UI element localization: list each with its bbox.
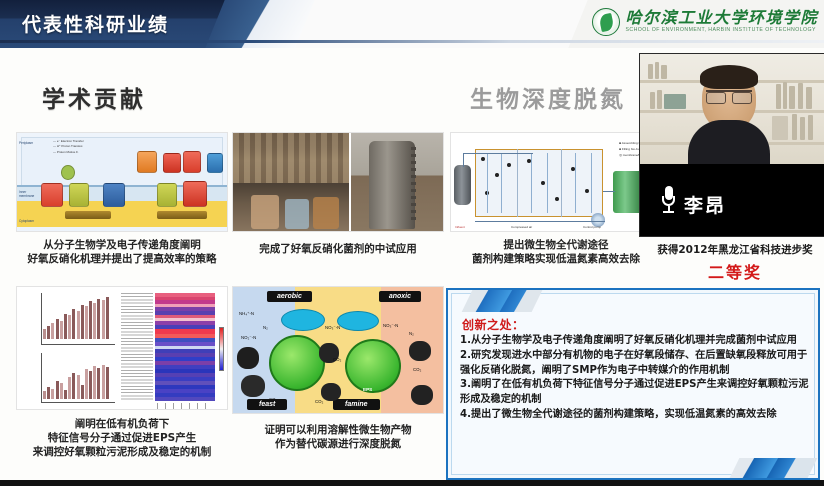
person-hair — [700, 65, 758, 89]
section-title-academic: 学术贡献 — [42, 80, 146, 114]
caption-line-3: 来调控好氧颗粒污泥形成及稳定的机制 — [10, 446, 234, 460]
caption-line-1: 从分子生物学及电子传递角度阐明 — [10, 239, 234, 253]
award-block: 获得2012年黑龙江省科技进步奖 二等奖 — [648, 242, 822, 283]
innovation-decor-top-left — [462, 288, 545, 312]
figure-caption-heatmap: 阐明在低有机负荷下 特征信号分子通过促进EPS产生 来调控好氧颗粒污泥形成及稳定… — [10, 418, 234, 460]
logo-chinese-name: 哈尔滨工业大学环境学院 — [625, 10, 818, 26]
video-person — [692, 68, 766, 164]
video-participant-tile[interactable]: 李昂 — [640, 54, 824, 236]
figure-bar-charts-heatmap — [16, 286, 228, 410]
figure-microbial-metabolism: aerobic anoxic feast famine NH₄⁺-N NO₂⁻-… — [232, 286, 444, 414]
award-title: 获得2012年黑龙江省科技进步奖 — [648, 242, 822, 257]
figure-electron-transport: Periplasm Innermembrane Cytoplasm — e⁻ E… — [16, 132, 228, 232]
figure-caption-bioreactor: 提出微生物全代谢途径 菌剂构建策略实现低温氮素高效去除 — [444, 239, 668, 267]
glasses-icon — [706, 90, 752, 101]
page-title: 代表性科研业绩 — [22, 10, 169, 37]
caption-line-1: 阐明在低有机负荷下 — [10, 418, 234, 432]
figure-bioreactor-schematic: ■ Assembling hollow carrier ■ Filling bi… — [450, 132, 662, 232]
caption-line-2: 菌剂构建策略实现低温氮素高效去除 — [444, 253, 668, 267]
innovation-item-4: 4.提出了微生物全代谢途径的菌剂构建策略，实现低温氮素的高效去除 — [460, 408, 810, 423]
caption-line-1: 提出微生物全代谢途径 — [444, 239, 668, 253]
caption-line-2: 特征信号分子通过促进EPS产生 — [10, 432, 234, 446]
section-title-denitrification: 生物深度脱氮 — [470, 80, 626, 114]
innovation-item-1: 1.从分子生物学及电子传递角度阐明了好氧反硝化机理并完成菌剂中试应用 — [460, 334, 810, 349]
header-underline — [0, 40, 824, 43]
university-logo: 哈尔滨工业大学环境学院 SCHOOL OF ENVIRONMENT, HARBI… — [592, 4, 818, 40]
figure-caption-metabolism: 证明可以利用溶解性微生物产物 作为替代碳源进行深度脱氮 — [226, 424, 450, 452]
video-name-bar: 李昂 — [640, 164, 824, 236]
figure-pilot-plant-photos — [232, 132, 444, 232]
caption-line-2: 好氧反硝化机理并提出了提高效率的策略 — [10, 253, 234, 267]
caption-line-1: 证明可以利用溶解性微生物产物 — [226, 424, 450, 438]
innovation-body: 1.从分子生物学及电子传递角度阐明了好氧反硝化机理并完成菌剂中试应用 2.研究发… — [460, 334, 810, 423]
innovation-item-2: 2.研究发现进水中部分有机物的电子在好氧段储存、在后置缺氧段释放可用于强化反硝化… — [460, 349, 810, 379]
caption-line-1: 完成了好氧反硝化菌剂的中试应用 — [226, 243, 450, 257]
logo-english-name: SCHOOL OF ENVIRONMENT, HARBIN INSTITUTE … — [625, 28, 818, 33]
presentation-slide: 代表性科研业绩 哈尔滨工业大学环境学院 SCHOOL OF ENVIRONMEN… — [0, 0, 824, 486]
award-grade: 二等奖 — [648, 259, 822, 283]
innovation-decor-bottom-right — [729, 458, 818, 480]
bottom-letterbox — [0, 480, 824, 486]
slide-header: 代表性科研业绩 哈尔滨工业大学环境学院 SCHOOL OF ENVIRONMEN… — [0, 0, 824, 48]
innovation-heading: 创新之处： — [462, 316, 525, 333]
innovation-item-3: 3.阐明了在低有机负荷下特征信号分子通过促进EPS产生来调控好氧颗粒污泥形成及稳… — [460, 378, 810, 408]
microphone-icon[interactable] — [662, 186, 675, 214]
caption-line-2: 作为替代碳源进行深度脱氮 — [226, 438, 450, 452]
figure-caption-pilot-plant: 完成了好氧反硝化菌剂的中试应用 — [226, 243, 450, 257]
participant-name: 李昂 — [684, 191, 726, 218]
figure-caption-electron-transport: 从分子生物学及电子传递角度阐明 好氧反硝化机理并提出了提高效率的策略 — [10, 239, 234, 267]
innovation-box: 创新之处： 1.从分子生物学及电子传递角度阐明了好氧反硝化机理并完成菌剂中试应用… — [446, 288, 820, 480]
logo-emblem-icon — [592, 8, 620, 36]
